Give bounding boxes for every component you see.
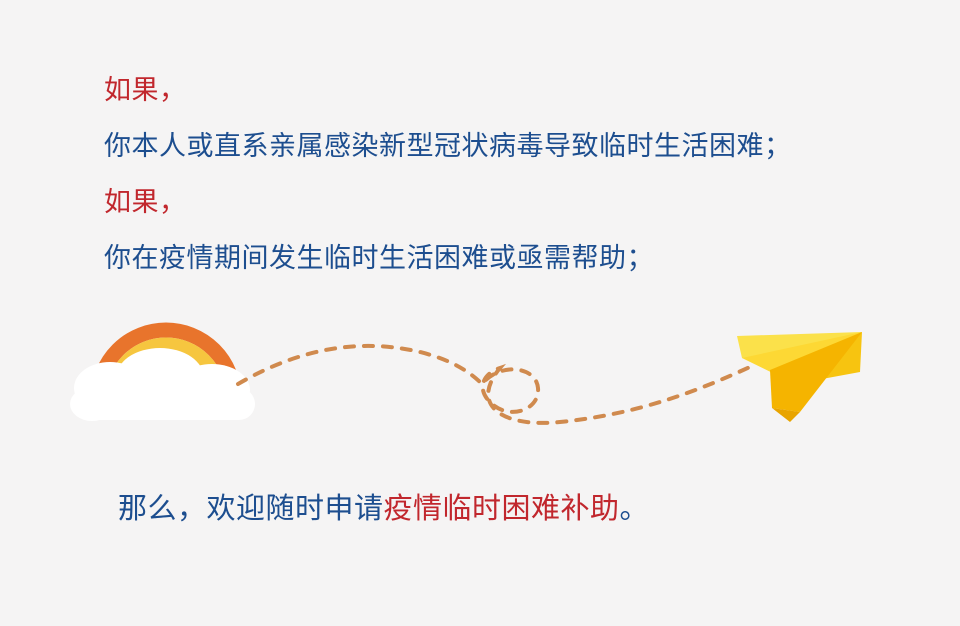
closing-line: 那么，欢迎随时申请疫情临时困难补助。 (118, 487, 649, 531)
closing-prefix: 那么，欢迎随时申请 (118, 493, 384, 525)
message-line-3: 如果， (104, 174, 934, 230)
closing-suffix: 。 (620, 493, 650, 525)
dashed-flight-path (238, 346, 752, 423)
poster-canvas: 如果， 你本人或直系亲属感染新型冠状病毒导致临时生活困难； 如果， 你在疫情期间… (0, 0, 960, 626)
message-line-2: 你本人或直系亲属感染新型冠状病毒导致临时生活困难； (104, 118, 934, 174)
illustration-group (0, 300, 960, 460)
paper-plane-icon (737, 332, 862, 422)
message-line-1: 如果， (104, 62, 934, 118)
message-line-4: 你在疫情期间发生临时生活困难或亟需帮助； (104, 230, 934, 286)
message-text-block: 如果， 你本人或直系亲属感染新型冠状病毒导致临时生活困难； 如果， 你在疫情期间… (104, 62, 934, 286)
closing-highlight: 疫情临时困难补助 (384, 493, 620, 525)
